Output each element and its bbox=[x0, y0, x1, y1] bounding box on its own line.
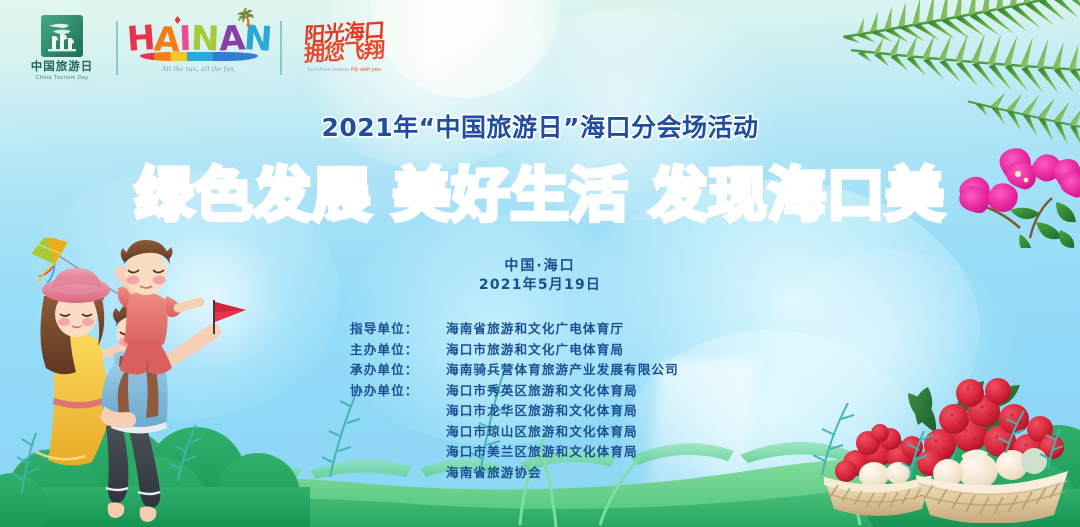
calligraphy-english: Sunshine Haikou Fly with you bbox=[307, 67, 381, 74]
organizer-value: 海口市美兰区旅游和文化体育局 bbox=[446, 442, 638, 463]
logo-sunshine-haikou: 阳光海口 拥您飞翔 Sunshine Haikou Fly with you bbox=[298, 23, 390, 73]
organizer-row: 海口市龙华区旅游和文化体育局 bbox=[350, 401, 679, 422]
logo-hainan-tagline: All the sun, all the fun. bbox=[162, 64, 237, 73]
hainan-letter-h: H bbox=[126, 22, 156, 56]
calligraphy-english-suffix: Fly with you bbox=[351, 67, 381, 73]
organizer-label bbox=[350, 442, 446, 463]
organizer-value: 海口市琼山区旅游和文化体育局 bbox=[446, 422, 638, 443]
organizer-row: 主办单位： 海口市旅游和文化广电体育局 bbox=[350, 340, 679, 361]
hainan-accent-dot: ♦ bbox=[173, 15, 182, 26]
poster-canvas: 中国旅游日 China Tourism Day HAINAN 🌴 ♦ All t… bbox=[0, 0, 1080, 527]
logo-band: 中国旅游日 China Tourism Day HAINAN 🌴 ♦ All t… bbox=[0, 0, 420, 96]
lychee-baskets bbox=[812, 371, 1074, 523]
organizer-value: 海南骑兵营体育旅游产业发展有限公司 bbox=[446, 360, 679, 381]
logo-hainan-wordmark: HAINAN 🌴 ♦ bbox=[127, 23, 272, 55]
calligraphy-english-prefix: Sunshine Haikou bbox=[307, 67, 349, 73]
hainan-letter-n1: N bbox=[191, 22, 220, 55]
organizer-list: 指导单位： 海南省旅游和文化广电体育厅 主办单位： 海口市旅游和文化广电体育局 … bbox=[350, 319, 679, 483]
event-subtitle: 2021年“中国旅游日”海口分会场活动 bbox=[0, 108, 1080, 144]
palm-tree-icon: 🌴 bbox=[235, 10, 255, 27]
event-place: 中国·海口 bbox=[0, 255, 1080, 275]
calligraphy-line-2: 拥您飞翔 bbox=[304, 40, 385, 64]
organizer-row: 海南省旅游协会 bbox=[350, 463, 679, 484]
china-tourism-day-emblem-icon bbox=[40, 14, 84, 58]
page-title: 绿色发展 美好生活 发现海口美 bbox=[0, 148, 1080, 232]
organizer-value: 海口市龙华区旅游和文化体育局 bbox=[446, 401, 638, 422]
organizer-row: 协办单位： 海口市秀英区旅游和文化体育局 bbox=[350, 381, 679, 402]
organizer-value: 海口市旅游和文化广电体育局 bbox=[446, 340, 624, 361]
organizer-label: 协办单位： bbox=[350, 381, 446, 402]
organizer-label: 承办单位： bbox=[350, 360, 446, 381]
organizer-row: 海口市琼山区旅游和文化体育局 bbox=[350, 422, 679, 443]
organizer-label: 主办单位： bbox=[350, 340, 446, 361]
logo-divider bbox=[280, 21, 282, 75]
organizer-row: 承办单位： 海南骑兵营体育旅游产业发展有限公司 bbox=[350, 360, 679, 381]
organizer-value: 海口市秀英区旅游和文化体育局 bbox=[446, 381, 638, 402]
page-title-text: 绿色发展 美好生活 发现海口美 bbox=[135, 161, 944, 229]
hainan-letter-a1: A bbox=[153, 23, 180, 57]
organizer-row: 海口市美兰区旅游和文化体育局 bbox=[350, 442, 679, 463]
organizer-value: 海南省旅游协会 bbox=[446, 463, 542, 484]
organizer-label bbox=[350, 422, 446, 443]
organizer-label: 指导单位： bbox=[350, 319, 446, 340]
logo-divider bbox=[116, 21, 118, 75]
logo-hainan: HAINAN 🌴 ♦ All the sun, all the fun. bbox=[134, 23, 264, 73]
organizer-label bbox=[350, 463, 446, 484]
logo-ctd-chinese: 中国旅游日 bbox=[31, 61, 94, 73]
organizer-value: 海南省旅游和文化广电体育厅 bbox=[446, 319, 624, 340]
event-date: 2021年5月19日 bbox=[0, 274, 1080, 294]
logo-china-tourism-day: 中国旅游日 China Tourism Day bbox=[24, 14, 100, 81]
organizer-label bbox=[350, 401, 446, 422]
logo-ctd-english: China Tourism Day bbox=[35, 76, 88, 82]
organizer-row: 指导单位： 海南省旅游和文化广电体育厅 bbox=[350, 319, 679, 340]
